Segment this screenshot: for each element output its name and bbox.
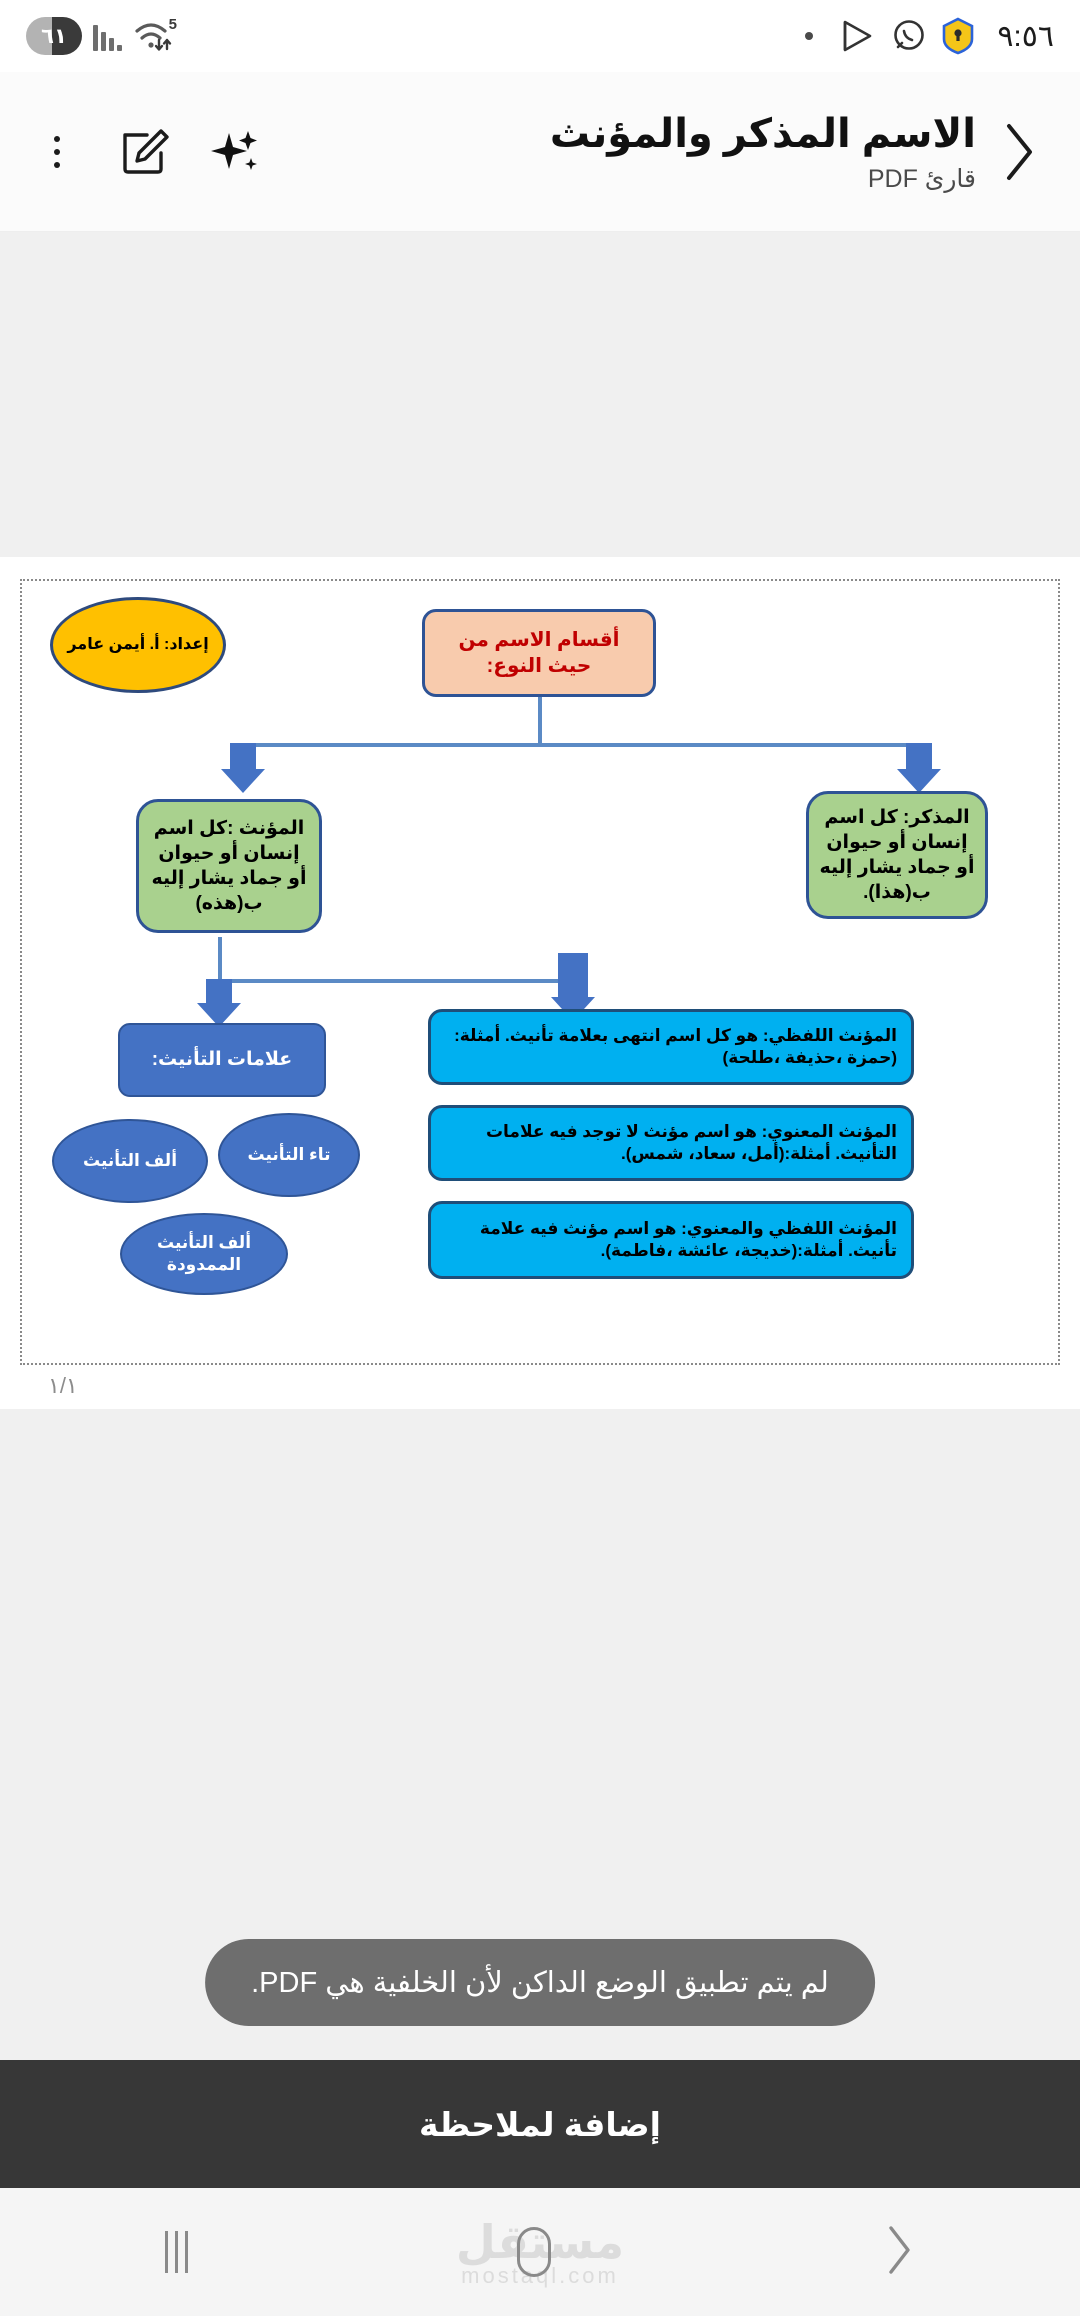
page-indicator: ١/١ xyxy=(48,1365,1060,1409)
signs-header-box: علامات التأنيث: xyxy=(118,1023,326,1097)
sign-oval-taa: تاء التأنيث xyxy=(218,1113,360,1197)
notification-dot-icon xyxy=(805,32,813,40)
header-title-group: الاسم المذكر والمؤنث قارئ PDF xyxy=(262,110,982,194)
play-store-icon xyxy=(839,19,877,53)
shield-icon xyxy=(941,17,975,55)
masculine-definition-box: المذكر: كل اسم إنسان أو حيوان أو جماد يش… xyxy=(806,791,988,919)
signal-bars-icon xyxy=(93,21,122,51)
home-pill-icon[interactable] xyxy=(517,2227,551,2277)
type-box-manawi: المؤنث المعنوي: هو اسم مؤنث لا توجد فيه … xyxy=(428,1105,914,1181)
add-note-button[interactable]: إضافة لملاحظة xyxy=(0,2060,1080,2188)
arrow-right-tip xyxy=(897,769,941,793)
nav-back-chevron-icon[interactable] xyxy=(880,2222,916,2283)
diagram-canvas: إعداد: أ. أيمن عامر أقسام الاسم من حيث ا… xyxy=(20,579,1060,1365)
connector-second-bus xyxy=(218,979,582,983)
arrow-right-shaft xyxy=(906,743,932,769)
kebab-menu-icon[interactable] xyxy=(32,124,82,180)
sparkle-icon[interactable] xyxy=(206,124,262,180)
sign-oval-alif: ألف التأنيث xyxy=(52,1119,208,1203)
whatsapp-icon xyxy=(891,18,927,54)
header-actions xyxy=(26,124,262,180)
status-bar-left: ٦١ 5 xyxy=(26,17,173,55)
pdf-reader-screen: ٦١ 5 xyxy=(0,0,1080,2316)
connector-horizontal-bus xyxy=(240,743,930,747)
edit-pencil-icon[interactable] xyxy=(116,124,172,180)
battery-level-badge: ٦١ xyxy=(26,17,82,55)
document-scroll-area[interactable]: إعداد: أ. أيمن عامر أقسام الاسم من حيث ا… xyxy=(0,232,1080,2060)
status-bar: ٦١ 5 xyxy=(0,0,1080,72)
pdf-page[interactable]: إعداد: أ. أيمن عامر أقسام الاسم من حيث ا… xyxy=(0,557,1080,1409)
type-box-lafzi: المؤنث اللفظي: هو كل اسم انتهى بعلامة تأ… xyxy=(428,1009,914,1085)
status-bar-right: ٩:٥٦ xyxy=(805,17,1054,55)
page-title: الاسم المذكر والمؤنث xyxy=(550,110,976,158)
dark-mode-toast: لم يتم تطبيق الوضع الداكن لأن الخلفية هي… xyxy=(205,1939,875,2026)
connector-feminine-stem xyxy=(218,937,222,981)
arrow-types-shaft xyxy=(558,953,588,997)
android-nav-bar: مستقل mostaql.com xyxy=(0,2188,1080,2316)
recent-apps-icon[interactable] xyxy=(165,2231,188,2273)
wifi-icon: 5 xyxy=(133,19,173,53)
type-box-lafzi-manawi: المؤنث اللفظي والمعنوي: هو اسم مؤنث فيه … xyxy=(428,1201,914,1279)
back-chevron-icon[interactable] xyxy=(982,116,1054,188)
page-subtitle: قارئ PDF xyxy=(868,164,976,194)
diagram-title-box: أقسام الاسم من حيث النوع: xyxy=(422,609,656,697)
sign-oval-alif-mamduda: ألف التأنيث الممدودة xyxy=(120,1213,288,1295)
app-header: الاسم المذكر والمؤنث قارئ PDF xyxy=(0,72,1080,232)
arrow-left-shaft xyxy=(230,743,256,769)
connector-title-stem xyxy=(538,697,542,745)
author-ellipse: إعداد: أ. أيمن عامر xyxy=(50,597,226,693)
status-bar-clock: ٩:٥٦ xyxy=(997,19,1054,54)
feminine-definition-box: المؤنث :كل اسم إنسان أو حيوان أو جماد يش… xyxy=(136,799,322,933)
wifi-generation-badge: 5 xyxy=(169,16,177,33)
arrow-signs-shaft xyxy=(206,979,232,1003)
arrow-left-tip xyxy=(221,769,265,793)
